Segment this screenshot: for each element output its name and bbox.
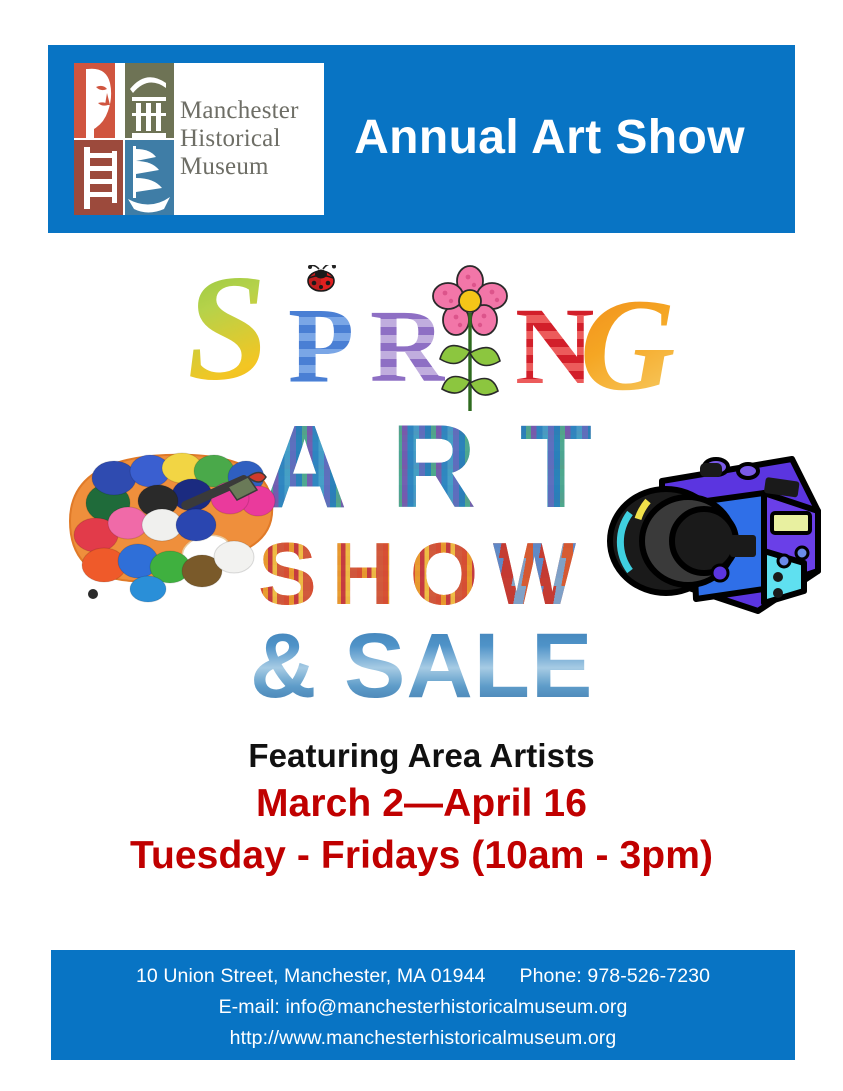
featuring-line: Featuring Area Artists: [0, 734, 843, 778]
logo-line-manchester: Manchester: [180, 97, 320, 125]
show-word-art: S H O W: [258, 530, 576, 622]
footer-phone: Phone: 978-526-7230: [519, 965, 710, 987]
show-letter-o: O: [410, 530, 478, 618]
flower-letter-i-icon: [428, 265, 512, 413]
logo-line-historical: Historical: [180, 125, 320, 153]
footer-email[interactable]: E-mail: info@manchesterhistoricalmuseum.…: [51, 992, 795, 1023]
dates-line: March 2—April 16: [0, 778, 843, 830]
sale-word-art: & SALE: [250, 620, 590, 712]
spring-letter-p: P: [288, 293, 354, 401]
page-title: Annual Art Show: [324, 110, 795, 169]
event-info-block: Featuring Area Artists March 2—April 16 …: [0, 734, 843, 882]
footer-website[interactable]: http://www.manchesterhistoricalmuseum.or…: [51, 1023, 795, 1054]
art-letter-t: T: [520, 408, 592, 526]
footer-address-row: 10 Union Street, Manchester, MA 01944Pho…: [51, 961, 795, 992]
spring-letter-s: S: [181, 251, 272, 405]
spring-letter-g: G: [580, 279, 675, 411]
logo-line-museum: Museum: [180, 153, 320, 181]
art-word-art: A R T: [262, 408, 592, 526]
footer-contact-banner: 10 Union Street, Manchester, MA 01944Pho…: [51, 950, 795, 1060]
ladybug-icon: [303, 265, 341, 293]
header-banner: Manchester Historical Museum Annual Art …: [48, 45, 795, 233]
museum-logo: Manchester Historical Museum: [74, 63, 324, 215]
museum-logo-mark-icon: [74, 63, 174, 215]
museum-logo-text: Manchester Historical Museum: [174, 63, 324, 215]
spring-word-art: S P R N G: [185, 243, 655, 415]
art-letter-r: R: [391, 408, 476, 526]
footer-address: 10 Union Street, Manchester, MA 01944: [136, 965, 486, 987]
show-letter-w: W: [493, 530, 576, 618]
paint-palette-illustration: [62, 443, 280, 618]
show-letter-h: H: [331, 530, 395, 618]
hours-line: Tuesday - Fridays (10am - 3pm): [0, 830, 843, 882]
camera-illustration: [596, 441, 824, 629]
